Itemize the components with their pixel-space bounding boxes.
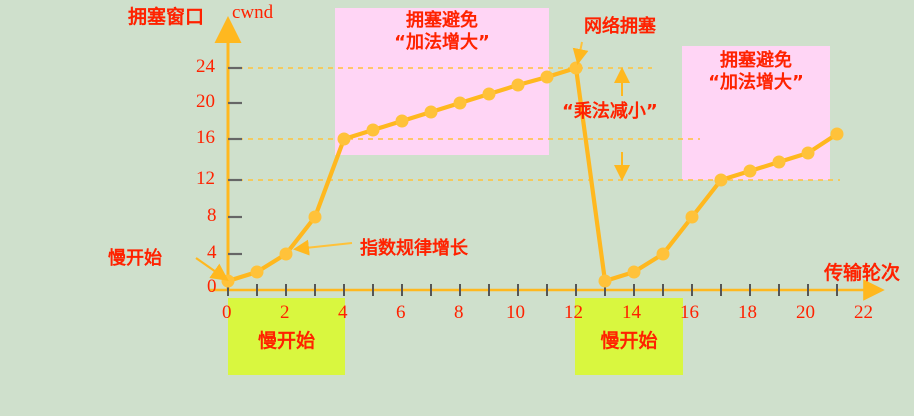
x-axis-title: 传输轮次 [824, 258, 900, 285]
y-tick-label-12: 12 [196, 168, 215, 190]
x-tick-label-6: 6 [396, 302, 406, 324]
x-tick-label-12: 12 [564, 302, 583, 324]
y-tick-label-4: 4 [207, 242, 217, 264]
y-tick-label-24: 24 [196, 56, 215, 78]
exponential-growth-leader-line [296, 243, 352, 249]
x-tick-label-14: 14 [622, 302, 641, 324]
x-tick-label-22: 22 [854, 302, 873, 324]
y-axis-title: 拥塞窗口 [128, 2, 204, 29]
multiplicative-decrease-label: “乘法减小” [562, 97, 658, 123]
x-tick-label-2: 2 [280, 302, 290, 324]
network-congestion-label: 网络拥塞 [584, 12, 656, 38]
x-tick-label-8: 8 [454, 302, 464, 324]
y-tick-label-0: 0 [207, 276, 217, 298]
congestion-avoidance-title-1: 拥塞避免 [335, 10, 549, 32]
congestion-avoidance-text-1: 拥塞避免 “加法增大” [335, 10, 549, 54]
y-axis-variable-label: cwnd [232, 2, 273, 24]
tcp-congestion-chart: 拥塞窗口 cwnd 传输轮次 0 4 8 12 16 20 24 0 2 4 6… [0, 0, 914, 416]
x-tick-label-20: 20 [796, 302, 815, 324]
slow-start-text-1: 慢开始 [228, 330, 345, 353]
x-tick-label-16: 16 [680, 302, 699, 324]
congestion-avoidance-subtitle-1: “加法增大” [335, 32, 549, 54]
slow-start-text-2: 慢开始 [575, 330, 683, 353]
slow-start-left-label: 慢开始 [108, 244, 162, 270]
congestion-avoidance-subtitle-2: “加法增大” [682, 72, 830, 94]
x-tick-label-10: 10 [506, 302, 525, 324]
x-tick-label-4: 4 [338, 302, 348, 324]
congestion-avoidance-title-2: 拥塞避免 [682, 50, 830, 72]
congestion-avoidance-text-2: 拥塞避免 “加法增大” [682, 50, 830, 94]
y-axis-ticks [228, 68, 242, 254]
network-congestion-leader-line [578, 42, 582, 62]
exponential-growth-label: 指数规律增长 [360, 234, 468, 260]
y-tick-label-8: 8 [207, 205, 217, 227]
x-tick-label-0: 0 [222, 302, 232, 324]
y-tick-label-20: 20 [196, 91, 215, 113]
y-tick-label-16: 16 [196, 127, 215, 149]
x-tick-label-18: 18 [738, 302, 757, 324]
cwnd-data-points [222, 62, 844, 288]
